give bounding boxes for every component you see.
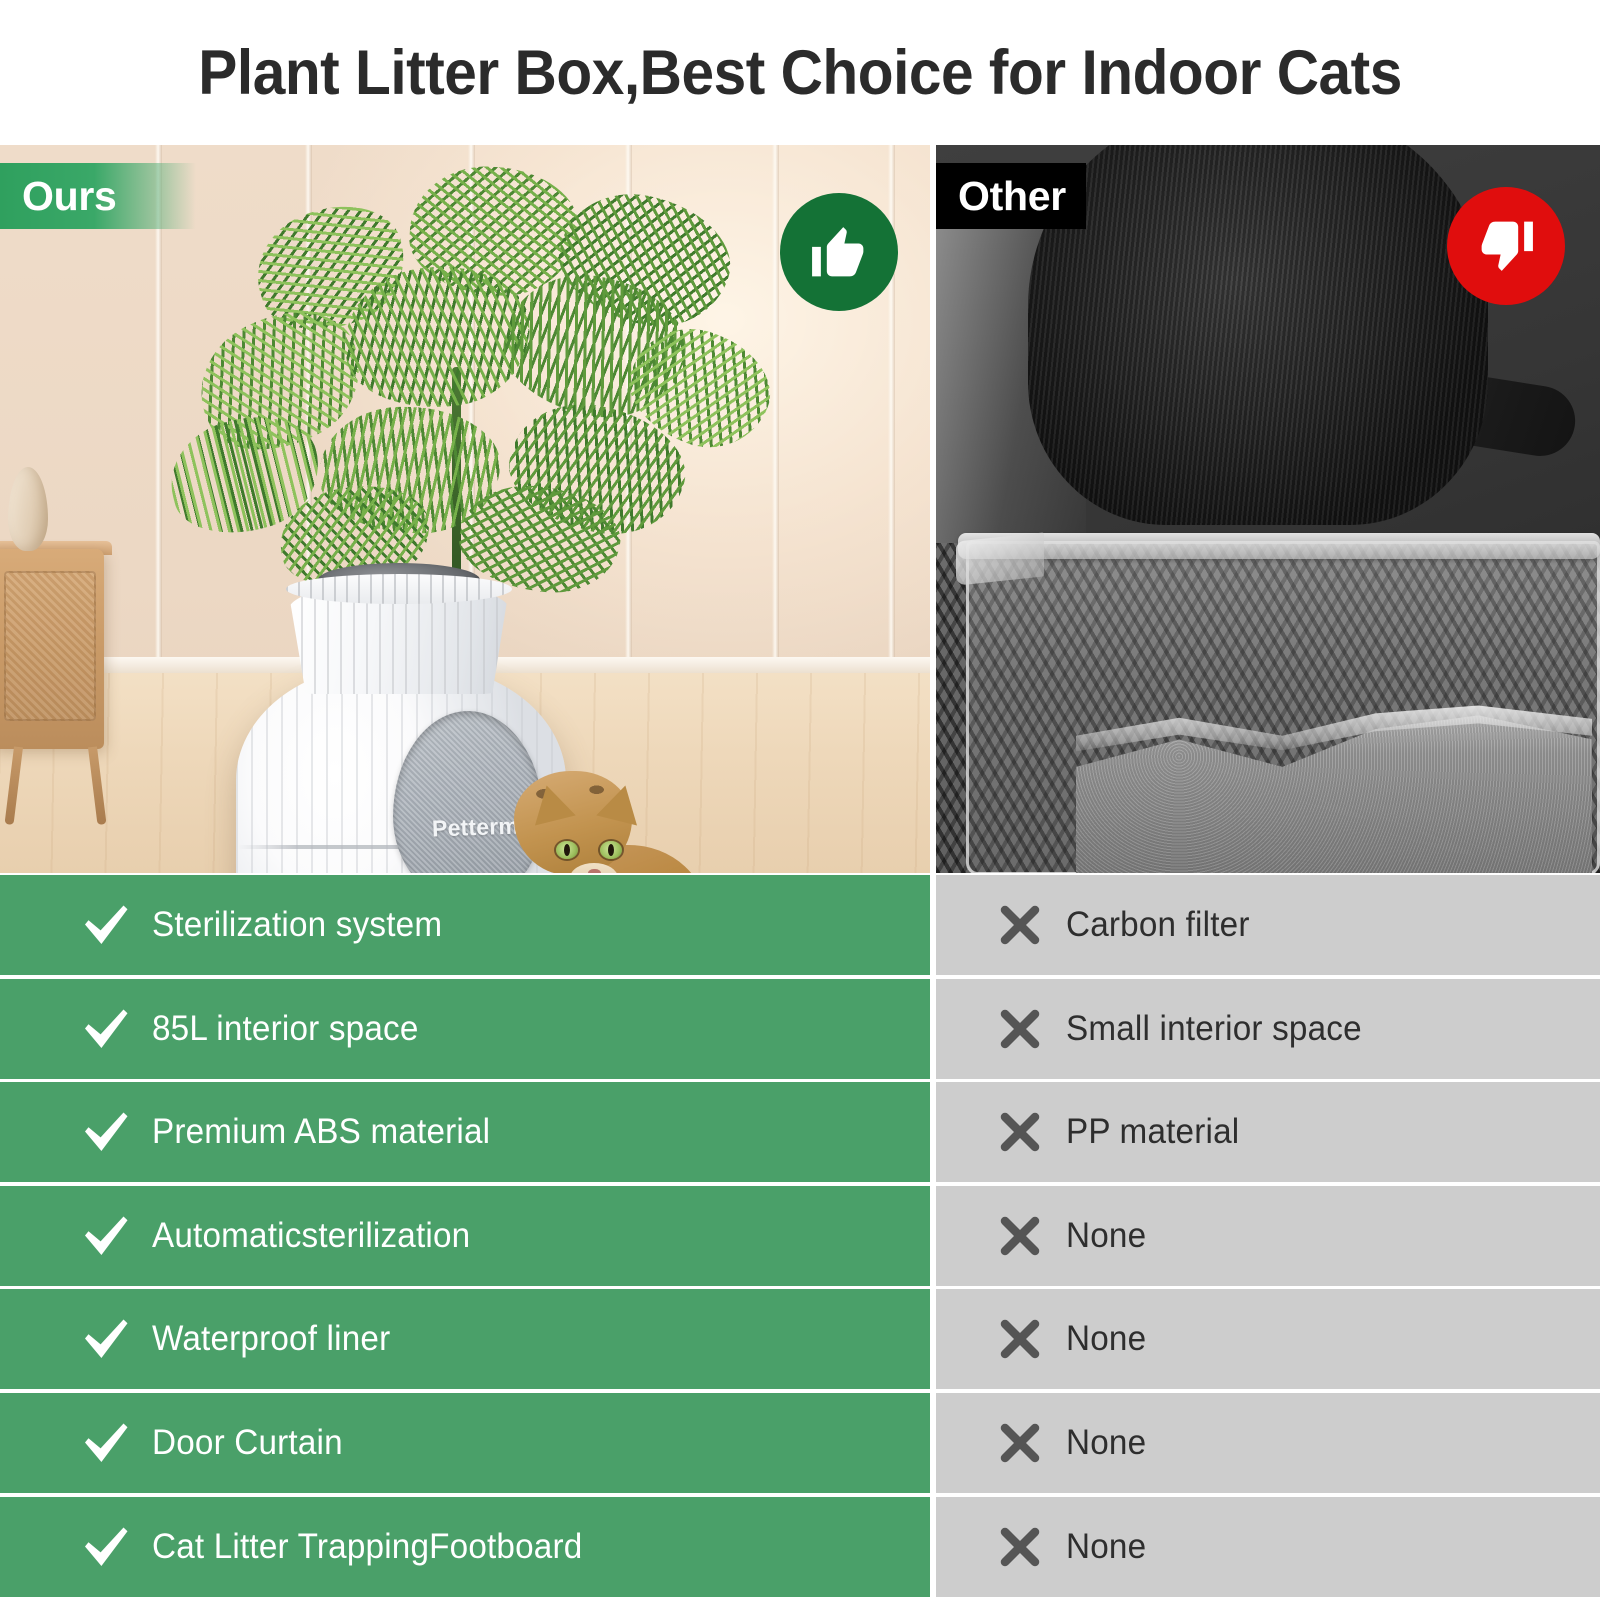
table-row: Waterproof linerNone: [0, 1289, 1600, 1393]
other-feature-label: None: [1066, 1527, 1146, 1567]
ours-cell: Door Curtain: [0, 1393, 930, 1493]
tray-handle: [956, 532, 1044, 585]
ours-cell: 85L interior space: [0, 979, 930, 1079]
cross-icon: [974, 903, 1066, 947]
cat-eye: [556, 841, 578, 859]
other-cell: Carbon filter: [936, 875, 1600, 975]
other-feature-label: None: [1066, 1423, 1146, 1463]
thumbs-up-icon: [780, 193, 898, 311]
ours-feature-label: Waterproof liner: [152, 1319, 390, 1359]
other-photo-panel: Other: [936, 145, 1600, 873]
other-feature-label: Small interior space: [1066, 1009, 1362, 1049]
other-banner: Other: [936, 163, 1086, 229]
other-banner-label: Other: [958, 173, 1066, 220]
ours-banner: Ours: [0, 163, 196, 229]
ours-cell: Cat Litter TrappingFootboard: [0, 1497, 930, 1597]
cat-pupil: [608, 844, 614, 856]
table-row: Door CurtainNone: [0, 1393, 1600, 1497]
check-icon: [60, 1317, 152, 1361]
hero-images: Petterm: [0, 145, 1600, 873]
cat-ear: [526, 780, 575, 825]
ours-cell: Waterproof liner: [0, 1289, 930, 1389]
litter-box-rim: [286, 574, 512, 604]
bamboo-plant: [160, 157, 760, 607]
other-feature-label: PP material: [1066, 1112, 1239, 1152]
cat-ear: [596, 780, 645, 825]
check-icon: [60, 1110, 152, 1154]
cat-eye: [600, 841, 622, 859]
page-title: Plant Litter Box,Best Choice for Indoor …: [198, 37, 1402, 109]
thumbs-down-icon: [1447, 187, 1565, 305]
ours-feature-label: Automaticsterilization: [152, 1216, 470, 1256]
ours-feature-label: Sterilization system: [152, 905, 442, 945]
table-row: Sterilization systemCarbon filter: [0, 875, 1600, 979]
decorative-vase: [8, 467, 48, 551]
ours-feature-label: Cat Litter TrappingFootboard: [152, 1527, 582, 1567]
table-row: AutomaticsterilizationNone: [0, 1186, 1600, 1290]
cross-icon: [974, 1007, 1066, 1051]
check-icon: [60, 903, 152, 947]
cross-icon: [974, 1525, 1066, 1569]
other-cell: None: [936, 1393, 1600, 1493]
check-icon: [60, 1007, 152, 1051]
table-row: Cat Litter TrappingFootboardNone: [0, 1497, 1600, 1600]
cat-head: [514, 771, 632, 873]
cross-icon: [974, 1110, 1066, 1154]
check-icon: [60, 1421, 152, 1465]
cross-icon: [974, 1421, 1066, 1465]
ours-feature-label: Premium ABS material: [152, 1112, 490, 1152]
title-bar: Plant Litter Box,Best Choice for Indoor …: [0, 0, 1600, 145]
feature-comparison-table: Sterilization systemCarbon filter85L int…: [0, 875, 1600, 1600]
other-feature-label: None: [1066, 1216, 1146, 1256]
cross-icon: [974, 1214, 1066, 1258]
cross-icon: [974, 1317, 1066, 1361]
table-row: Premium ABS materialPP material: [0, 1082, 1600, 1186]
cat-pupil: [564, 844, 570, 856]
ours-cell: Automaticsterilization: [0, 1186, 930, 1286]
table-row: 85L interior spaceSmall interior space: [0, 979, 1600, 1083]
ours-feature-label: Door Curtain: [152, 1423, 343, 1463]
other-cell: Small interior space: [936, 979, 1600, 1079]
ours-cell: Premium ABS material: [0, 1082, 930, 1182]
check-icon: [60, 1525, 152, 1569]
other-cell: None: [936, 1186, 1600, 1286]
dark-cat: [1028, 145, 1488, 525]
ours-feature-label: 85L interior space: [152, 1009, 419, 1049]
ours-cell: Sterilization system: [0, 875, 930, 975]
other-feature-label: None: [1066, 1319, 1146, 1359]
other-cell: None: [936, 1497, 1600, 1597]
tray-rim: [958, 533, 1600, 559]
other-feature-label: Carbon filter: [1066, 905, 1250, 945]
check-icon: [60, 1214, 152, 1258]
ours-banner-label: Ours: [22, 173, 117, 220]
ours-photo-panel: Petterm: [0, 145, 930, 873]
other-cell: PP material: [936, 1082, 1600, 1182]
sideboard-rattan-panel: [4, 571, 96, 721]
comparison-infographic: Plant Litter Box,Best Choice for Indoor …: [0, 0, 1600, 1600]
other-cell: None: [936, 1289, 1600, 1389]
bengal-cat: [496, 737, 826, 873]
cat-nose: [588, 869, 601, 873]
